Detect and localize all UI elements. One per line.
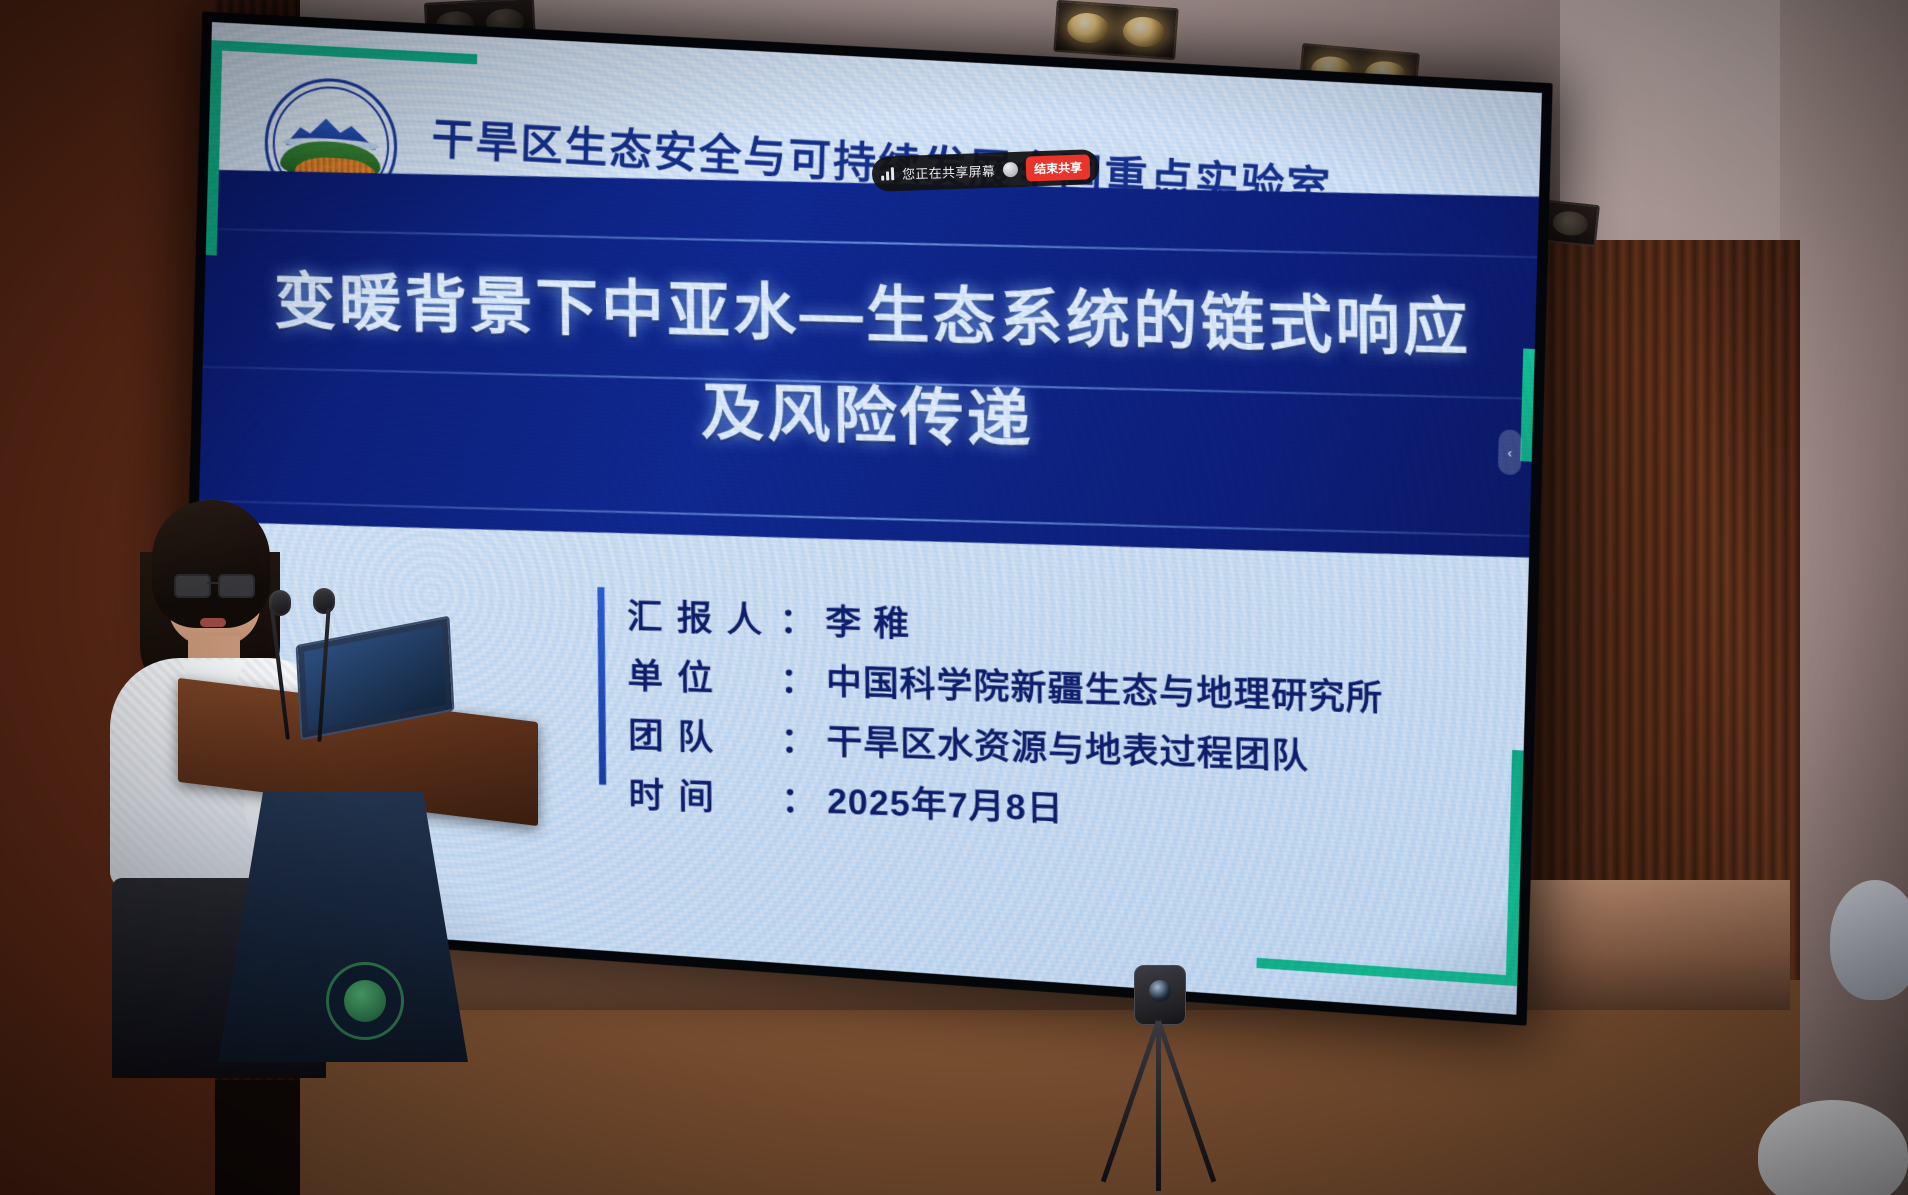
institute-emblem-icon <box>326 962 404 1040</box>
info-accent-bar <box>597 587 606 785</box>
info-key: 汇报人 <box>627 588 780 644</box>
info-colon: ： <box>780 712 816 765</box>
audience-head-foreground <box>1830 880 1908 1000</box>
podium <box>178 700 538 1060</box>
info-colon: ： <box>780 652 816 705</box>
info-value: 2025年7月8日 <box>827 773 1064 832</box>
screen-share-message: 您正在共享屏幕 <box>902 161 996 183</box>
camera-body <box>1134 965 1186 1025</box>
info-value: 干旱区水资源与地表过程团队 <box>826 713 1309 780</box>
end-sharing-button[interactable]: 结束共享 <box>1026 154 1091 181</box>
info-key: 单位 <box>627 647 780 703</box>
info-lines: 汇报人 ： 李 稚 单位 ： 中国科学院新疆生态与地理研究所 团队 ： 干旱区水… <box>627 588 1385 842</box>
slide-title-line1: 变暖背景下中亚水—生态系统的链式响应 <box>274 250 1472 368</box>
share-status-dot-icon <box>1003 162 1019 178</box>
info-key: 时间 <box>628 766 781 822</box>
light-bulb <box>1552 210 1588 236</box>
signal-bars-icon <box>881 167 894 180</box>
tripod-leg <box>1101 1020 1161 1182</box>
presenter-glasses <box>172 574 258 596</box>
info-value: 李 稚 <box>825 593 910 647</box>
microphone-head <box>313 588 335 614</box>
slide-prev-button[interactable]: ‹ <box>1498 429 1522 475</box>
info-colon: ： <box>779 592 815 645</box>
presenter-mouth <box>200 618 226 627</box>
slide-info-block: 汇报人 ： 李 稚 单位 ： 中国科学院新疆生态与地理研究所 团队 ： 干旱区水… <box>597 587 1380 842</box>
conference-hall-scene: 干旱区生态安全与可持续发展全国重点实验室 State Key Laborator… <box>0 0 1908 1195</box>
light-bulb <box>1122 15 1167 48</box>
info-value: 中国科学院新疆生态与地理研究所 <box>826 653 1384 721</box>
tripod-leg <box>1156 1020 1216 1182</box>
tripod-camera <box>1100 965 1220 1195</box>
light-bulb <box>1066 11 1111 44</box>
tripod-leg <box>1156 1021 1161 1191</box>
presenter-hair <box>152 500 270 628</box>
camera-lens-icon <box>1149 980 1171 1002</box>
ceiling-light-fixture <box>1053 0 1178 60</box>
info-colon: ： <box>781 771 817 824</box>
slide-title-line2: 及风险传递 <box>701 361 1034 460</box>
info-key: 团队 <box>628 707 781 763</box>
